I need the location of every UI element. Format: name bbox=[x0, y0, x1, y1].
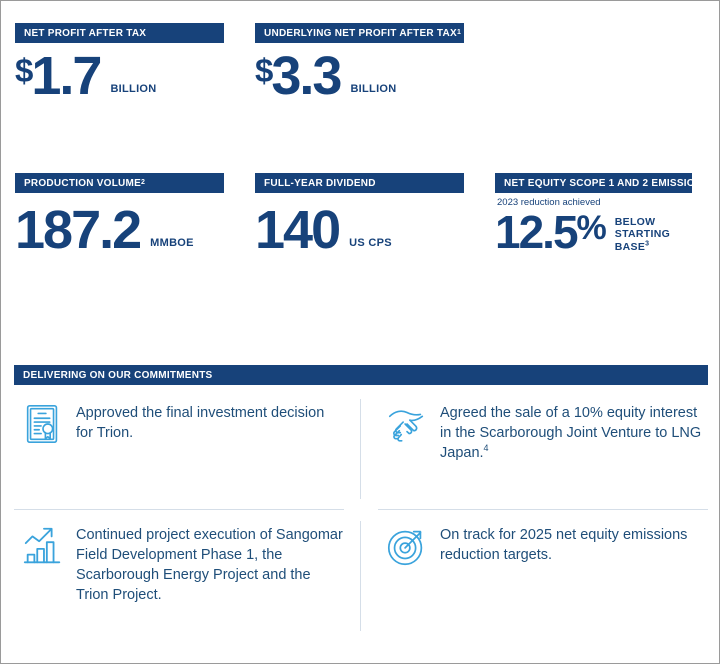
metric-title: UNDERLYING NET PROFIT AFTER TAX bbox=[264, 28, 457, 39]
metric-value-row: 187.2 MMBOE bbox=[15, 203, 233, 257]
currency-symbol: $ bbox=[255, 53, 271, 89]
commitment-text: Agreed the sale of a 10% equity interest… bbox=[440, 401, 708, 463]
commitment-item-1: Approved the final investment decision f… bbox=[14, 401, 344, 447]
metric-card-net-profit-after-tax: NET PROFIT AFTER TAX $1.7 BILLION bbox=[1, 23, 241, 103]
handshake-icon bbox=[384, 401, 430, 447]
metric-card-full-year-dividend: FULL-YEAR DIVIDEND 140 US CPS bbox=[241, 173, 481, 257]
vertical-divider-bottom bbox=[360, 521, 361, 631]
metric-unit: US CPS bbox=[349, 237, 392, 249]
metric-number: 140 bbox=[255, 203, 339, 257]
metric-number: 12.5 bbox=[495, 208, 577, 256]
metric-value-row: 140 US CPS bbox=[255, 203, 473, 257]
commitment-text-body: Approved the final investment decision f… bbox=[76, 405, 324, 441]
metric-title-banner: UNDERLYING NET PROFIT AFTER TAX1 bbox=[255, 23, 464, 43]
commitment-text-body: Continued project execution of Sangomar … bbox=[76, 527, 343, 603]
metric-unit-line-1: BELOW bbox=[615, 216, 670, 229]
metric-value: $1.7 bbox=[15, 49, 100, 103]
metric-number: 3.3 bbox=[271, 49, 340, 103]
metric-title: PRODUCTION VOLUME bbox=[24, 178, 141, 189]
metric-unit: BILLION bbox=[350, 83, 396, 95]
horizontal-divider-right bbox=[378, 509, 708, 510]
vertical-divider-top bbox=[360, 399, 361, 499]
metric-unit: MMBOE bbox=[150, 237, 194, 249]
horizontal-divider-left bbox=[14, 509, 344, 510]
metric-title-banner: NET PROFIT AFTER TAX bbox=[15, 23, 224, 43]
commitments-banner: DELIVERING ON OUR COMMITMENTS bbox=[14, 365, 708, 385]
metric-unit: BELOW STARTING BASE3 bbox=[615, 216, 670, 254]
metric-title: NET PROFIT AFTER TAX bbox=[24, 28, 146, 39]
commitments-banner-title: DELIVERING ON OUR COMMITMENTS bbox=[23, 370, 212, 381]
metric-value-row: $1.7 BILLION bbox=[15, 49, 233, 103]
commitment-text: Continued project execution of Sangomar … bbox=[76, 523, 344, 605]
metrics-row-2: PRODUCTION VOLUME2 187.2 MMBOE FULL-YEAR… bbox=[1, 173, 720, 257]
commitment-text-body: Agreed the sale of a 10% equity interest… bbox=[440, 405, 701, 461]
commitments-grid: Approved the final investment decision f… bbox=[14, 391, 708, 641]
metric-value-row: 12.5% BELOW STARTING BASE3 bbox=[495, 208, 713, 256]
metric-value-row: $3.3 BILLION bbox=[255, 49, 473, 103]
metric-value: 140 bbox=[255, 203, 339, 257]
metrics-row-1: NET PROFIT AFTER TAX $1.7 BILLION UNDERL… bbox=[1, 23, 720, 103]
metric-number: 187.2 bbox=[15, 203, 140, 257]
currency-symbol: $ bbox=[15, 53, 31, 89]
percent-symbol: % bbox=[577, 210, 607, 246]
target-icon bbox=[384, 523, 430, 569]
growth-chart-icon bbox=[20, 523, 66, 569]
commitment-item-4: On track for 2025 net equity emissions r… bbox=[378, 523, 708, 569]
metric-value: $3.3 bbox=[255, 49, 340, 103]
commitment-text: On track for 2025 net equity emissions r… bbox=[440, 523, 708, 565]
metric-unit-line-3: BASE bbox=[615, 241, 645, 253]
metric-title-banner: FULL-YEAR DIVIDEND bbox=[255, 173, 464, 193]
metric-unit-superscript: 3 bbox=[645, 240, 649, 247]
commitment-superscript: 4 bbox=[484, 443, 489, 453]
metric-title-banner: NET EQUITY SCOPE 1 AND 2 EMISSIONS bbox=[495, 173, 692, 193]
metric-card-production-volume: PRODUCTION VOLUME2 187.2 MMBOE bbox=[1, 173, 241, 257]
commitment-text-body: On track for 2025 net equity emissions r… bbox=[440, 527, 687, 563]
metric-unit-line-2: STARTING bbox=[615, 228, 670, 241]
metric-card-net-equity-scope-emissions: NET EQUITY SCOPE 1 AND 2 EMISSIONS 2023 … bbox=[481, 173, 720, 257]
metric-unit: BILLION bbox=[110, 83, 156, 95]
metric-title: NET EQUITY SCOPE 1 AND 2 EMISSIONS bbox=[504, 178, 709, 189]
certificate-icon bbox=[20, 401, 66, 447]
metric-number: 1.7 bbox=[31, 49, 100, 103]
metric-unit-line-3-wrap: BASE3 bbox=[615, 241, 670, 254]
metric-value: 12.5% bbox=[495, 208, 607, 256]
commitment-item-3: Continued project execution of Sangomar … bbox=[14, 523, 344, 605]
infographic-page: NET PROFIT AFTER TAX $1.7 BILLION UNDERL… bbox=[0, 0, 720, 664]
commitment-item-2: Agreed the sale of a 10% equity interest… bbox=[378, 401, 708, 463]
metric-card-underlying-net-profit-after-tax: UNDERLYING NET PROFIT AFTER TAX1 $3.3 BI… bbox=[241, 23, 481, 103]
metric-title-banner: PRODUCTION VOLUME2 bbox=[15, 173, 224, 193]
metric-value: 187.2 bbox=[15, 203, 140, 257]
metric-title: FULL-YEAR DIVIDEND bbox=[264, 178, 376, 189]
commitment-text: Approved the final investment decision f… bbox=[76, 401, 344, 443]
